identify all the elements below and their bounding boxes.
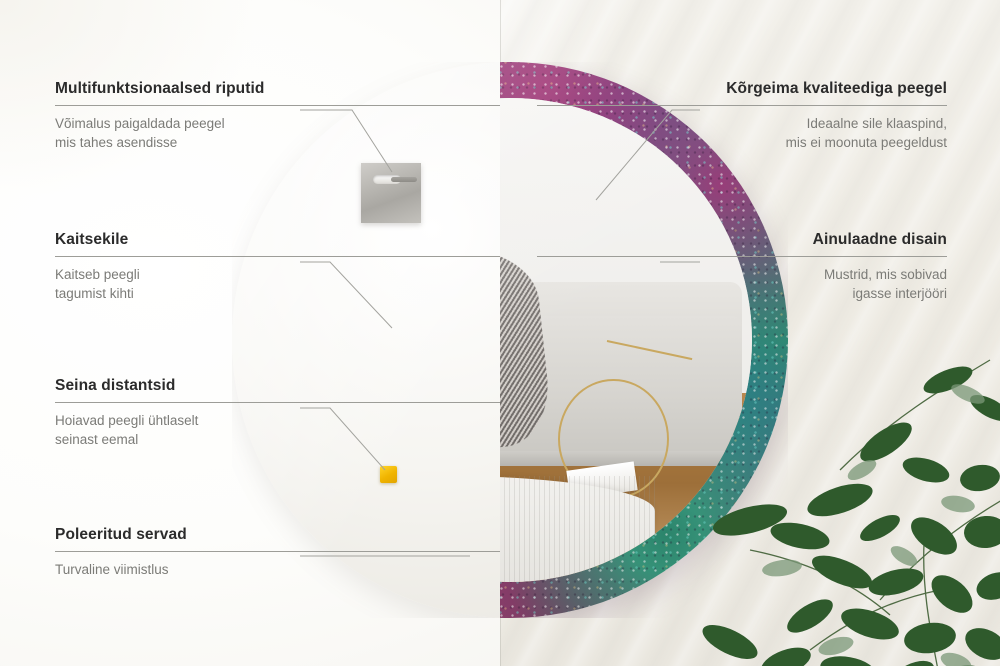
callout-description: Mustrid, mis sobivad igasse interjööri: [537, 266, 947, 303]
callout-title: Kaitsekile: [55, 231, 500, 249]
callout-ainulaadne-disain: Ainulaadne disain Mustrid, mis sobivad i…: [537, 231, 947, 303]
callout-multifunktsionaalsed-riputid: Multifunktsionaalsed riputid Võimalus pa…: [55, 80, 500, 152]
hanger-bracket: [391, 177, 417, 182]
callout-description: Võimalus paigaldada peegel mis tahes ase…: [55, 115, 500, 152]
callout-rule: [55, 105, 500, 106]
callout-title: Kõrgeima kvaliteediga peegel: [537, 80, 947, 98]
callout-title: Seina distantsid: [55, 377, 500, 395]
callout-rule: [55, 256, 500, 257]
callout-description: Turvaline viimistlus: [55, 561, 500, 580]
callout-kaitsekile: Kaitsekile Kaitseb peegli tagumist kihti: [55, 231, 500, 303]
callout-description: Hoiavad peegli ühtlaselt seinast eemal: [55, 412, 500, 449]
callout-seina-distantsid: Seina distantsid Hoiavad peegli ühtlasel…: [55, 377, 500, 449]
callout-description: Ideaalne sile klaaspind, mis ei moonuta …: [537, 115, 947, 152]
callout-rule: [537, 256, 947, 257]
wall-spacer-yellow: [380, 466, 397, 483]
foliage-branches-decoration: [690, 350, 1000, 666]
wall-hanger-plate: [361, 163, 421, 223]
callout-korgeima-kvaliteediga-peegel: Kõrgeima kvaliteediga peegel Ideaalne si…: [537, 80, 947, 152]
callout-rule: [55, 402, 500, 403]
callout-title: Poleeritud servad: [55, 526, 500, 544]
callout-rule: [55, 551, 500, 552]
callout-rule: [537, 105, 947, 106]
infographic-canvas: Multifunktsionaalsed riputid Võimalus pa…: [0, 0, 1000, 666]
callout-title: Ainulaadne disain: [537, 231, 947, 249]
callout-description: Kaitseb peegli tagumist kihti: [55, 266, 500, 303]
callout-title: Multifunktsionaalsed riputid: [55, 80, 500, 98]
callout-poleeritud-servad: Poleeritud servad Turvaline viimistlus: [55, 526, 500, 580]
